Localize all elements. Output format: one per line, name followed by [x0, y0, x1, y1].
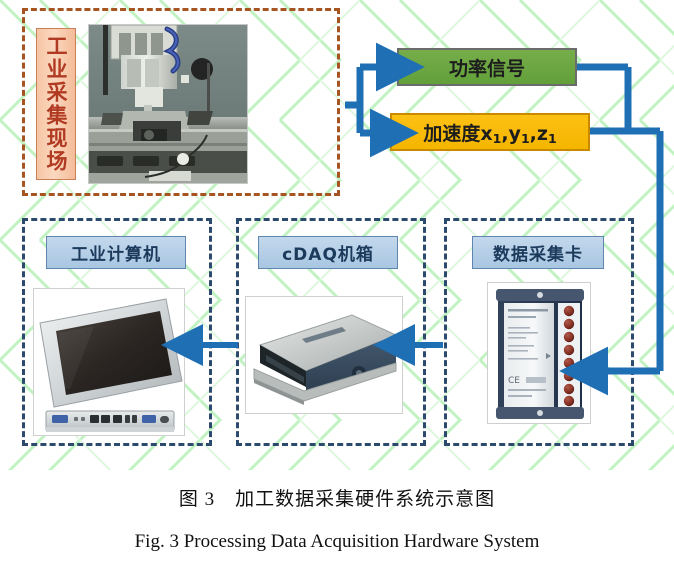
cnc-milling-machine-photo: [88, 24, 248, 184]
cdaq-chassis-photo: [245, 296, 403, 414]
site-label-box: 工业采集现场: [36, 28, 76, 180]
figure-caption-english: Fig. 3 Processing Data Acquisition Hardw…: [0, 531, 674, 553]
figure-caption-chinese: 图 3 加工数据采集硬件系统示意图: [0, 484, 674, 511]
site-label-text: 工业采集现场: [45, 35, 67, 173]
svg-text:CE: CE: [508, 376, 520, 386]
signal-box-power-label: 功率信号: [449, 54, 525, 81]
signal-box-acceleration: 加速度x1,y1,z1: [390, 113, 590, 151]
industrial-panel-pc-photo: [33, 288, 185, 436]
label-industrial-computer: 工业计算机: [46, 236, 186, 269]
label-industrial-computer-text: 工业计算机: [71, 240, 161, 265]
label-cdaq-chassis-text: cDAQ机箱: [282, 240, 374, 265]
signal-box-power: 功率信号: [397, 48, 577, 86]
label-daq-card: 数据采集卡: [472, 236, 604, 269]
signal-box-acceleration-label: 加速度x1,y1,z1: [423, 119, 556, 146]
figure-root: 工业采集现场: [0, 0, 674, 575]
label-cdaq-chassis: cDAQ机箱: [258, 236, 398, 269]
label-daq-card-text: 数据采集卡: [493, 240, 583, 265]
daq-module-photo: CE: [487, 282, 591, 424]
